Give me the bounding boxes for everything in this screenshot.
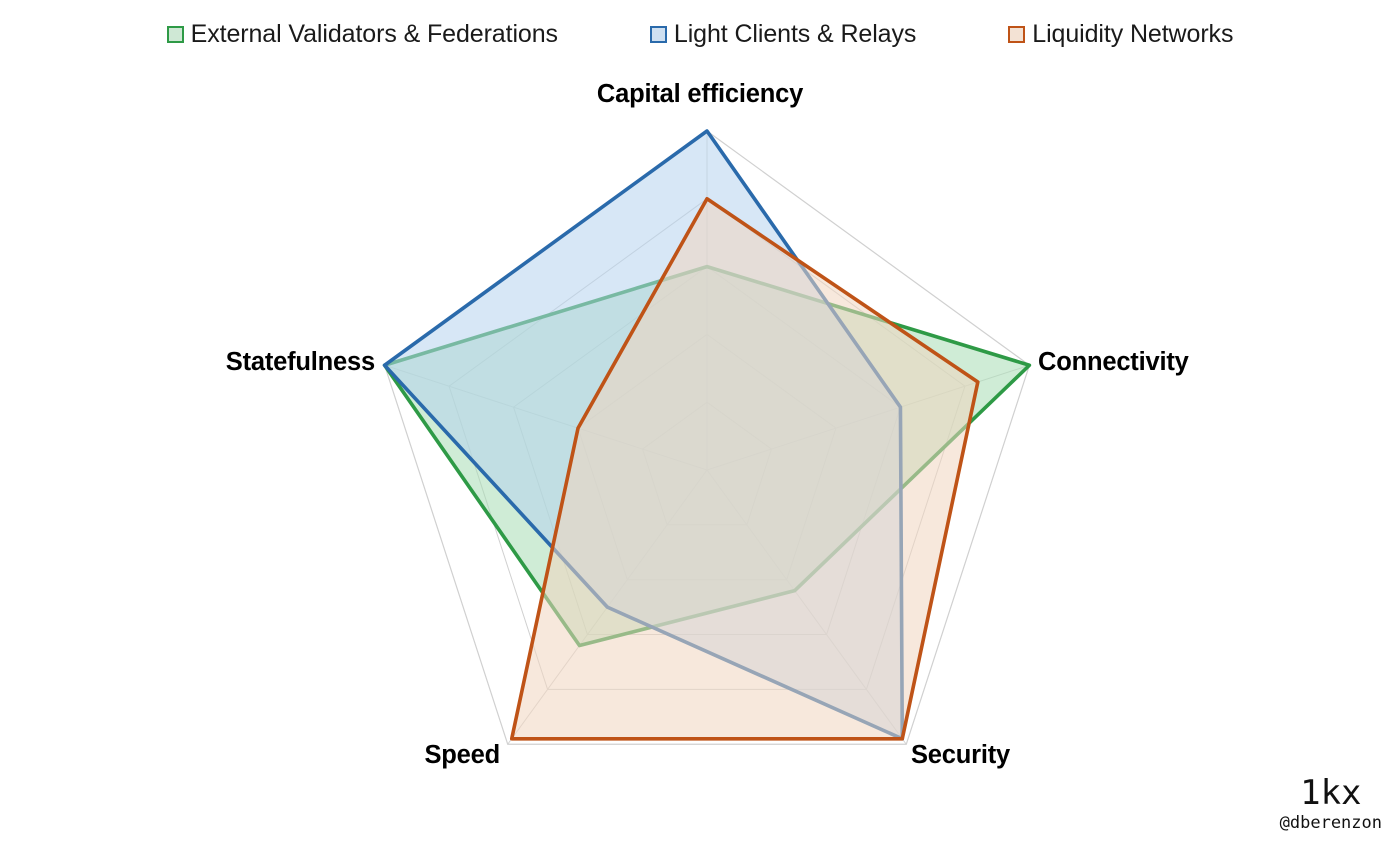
radar-chart: External Validators & Federations Light … [0, 0, 1400, 846]
axis-label-connectivity: Connectivity [1038, 348, 1189, 377]
watermark-handle: @dberenzon [1280, 812, 1382, 834]
axis-label-speed: Speed [424, 741, 500, 770]
axis-label-security: Security [911, 741, 1010, 770]
radar-series-layer [385, 131, 1030, 739]
watermark-logo: 1kx [1280, 776, 1382, 812]
watermark: 1kx @dberenzon [1280, 776, 1382, 834]
radar-plot-area [0, 0, 1400, 846]
axis-label-capital-efficiency: Capital efficiency [0, 80, 1400, 109]
axis-label-statefulness: Statefulness [226, 348, 375, 377]
